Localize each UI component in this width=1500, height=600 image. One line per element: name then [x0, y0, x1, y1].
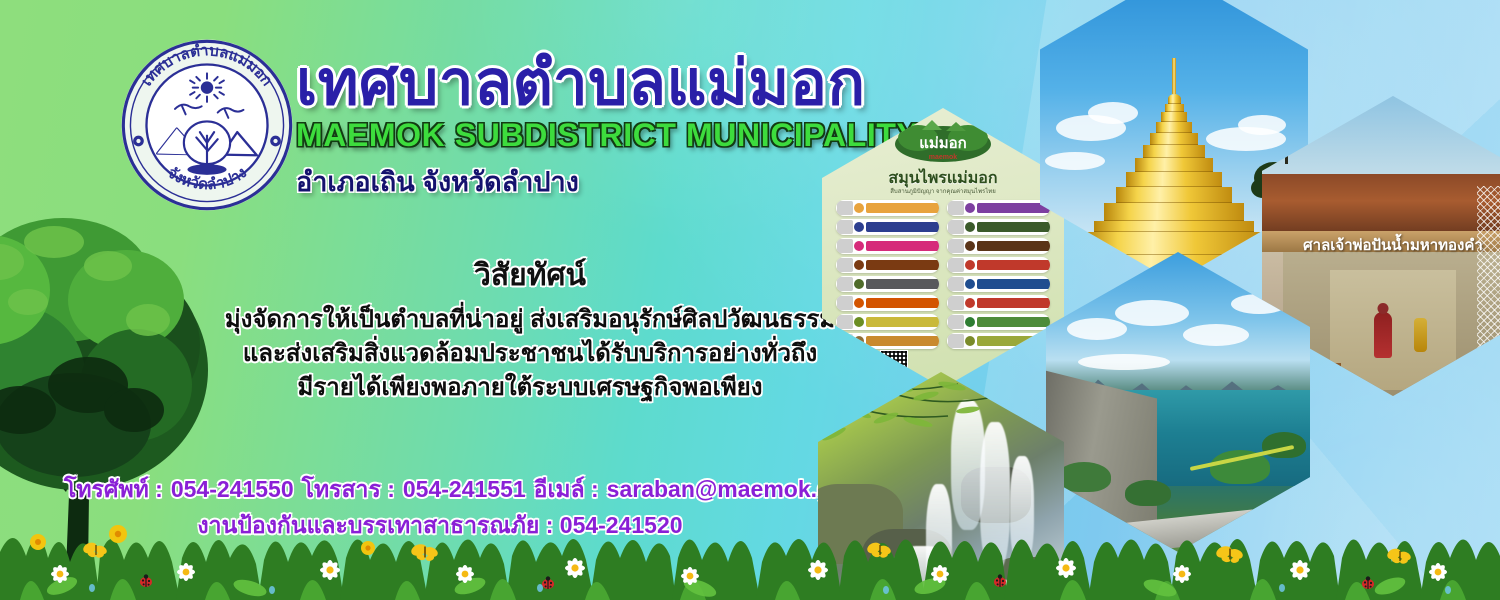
shrine-roof	[1262, 174, 1500, 234]
product-row	[836, 200, 1050, 216]
shrine-interior	[1330, 270, 1456, 390]
vision-line-2: และส่งเสริมสิ่งแวดล้อมประชาชนได้รับบริกา…	[200, 337, 860, 371]
herb-product-grid	[836, 200, 1050, 350]
shrine-fence-mesh	[1477, 186, 1500, 378]
thai-title: เทศบาลตำบลแม่มอก	[296, 52, 996, 115]
cloud	[1115, 300, 1189, 326]
shrub	[1057, 462, 1111, 492]
svg-text:แม่มอก: แม่มอก	[919, 135, 967, 152]
vision-line-1: มุ่งจัดการให้เป็นตำบลที่น่าอยู่ ส่งเสริม…	[200, 303, 860, 337]
cloud	[1183, 324, 1249, 346]
product-row	[836, 333, 1050, 349]
shrine-statue	[1374, 312, 1392, 358]
svg-text:maemok: maemok	[929, 154, 958, 161]
vision-block: วิสัยทัศน์ มุ่งจัดการให้เป็นตำบลที่น่าอย…	[200, 252, 860, 405]
herb-poster-subheading: สืบสานภูมิปัญญา จากคุณค่าสมุนไพรไทย	[822, 186, 1064, 196]
pagoda-caption-2: บ้านกุ่	[1269, 0, 1294, 11]
golden-figure	[1414, 318, 1427, 352]
vision-line-3: มีรายได้เพียงพอภายใต้ระบบเศรษฐกิจพอเพียง	[200, 371, 860, 405]
cloud	[1067, 318, 1127, 340]
grass-flower-border	[0, 512, 1500, 600]
product-row	[836, 219, 1050, 235]
phone-label: โทรศัพท์ :	[64, 476, 163, 502]
shrine-caption: ศาลเจ้าพ่อปันน้ำมหาทองคำ	[1262, 233, 1500, 257]
fax-label: โทรสาร :	[302, 476, 395, 502]
fax-value: 054-241551	[403, 476, 526, 502]
product-row	[836, 276, 1050, 292]
shrub	[1125, 480, 1171, 506]
qr-code-icon	[880, 350, 908, 378]
product-row	[836, 238, 1050, 254]
golden-chedi	[1079, 58, 1269, 282]
municipality-banner: เทศบาลตำบลแม่มอก จังหวัดลำปาง เทศบาลตำบล…	[0, 0, 1500, 600]
product-row	[836, 314, 1050, 330]
pagoda-caption-3: อำเภ	[1273, 10, 1292, 24]
phone-value: 054-241550	[171, 476, 294, 502]
municipality-seal-logo: เทศบาลตำบลแม่มอก จังหวัดลำปาง	[118, 36, 296, 214]
vision-heading: วิสัยทัศน์	[200, 252, 860, 299]
product-row	[836, 257, 1050, 273]
email-label: อีเมล์ :	[534, 476, 599, 502]
product-row	[836, 295, 1050, 311]
contact-line-primary: โทรศัพท์ :054-241550โทรสาร :054-241551อี…	[60, 472, 820, 508]
